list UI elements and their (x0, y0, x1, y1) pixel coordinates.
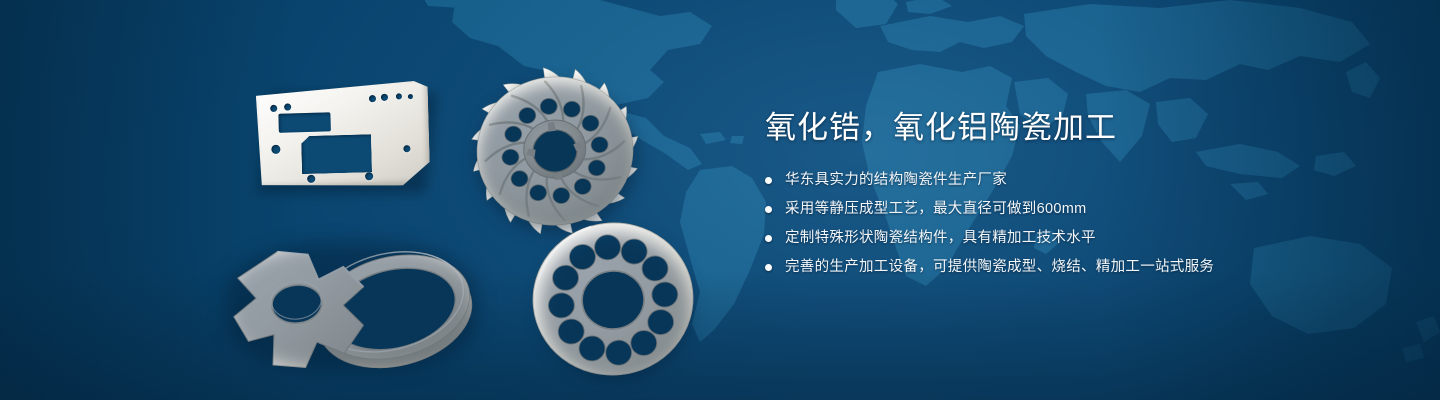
bullet-dot-icon (765, 264, 772, 271)
plate-body (256, 81, 431, 190)
cross-drop-shadow (227, 243, 477, 371)
ceramic-perforated-annulus (525, 213, 705, 385)
bullet-dot-icon (765, 206, 772, 213)
annulus-drop-shadow (539, 233, 691, 379)
bullet-dot-icon (765, 177, 772, 184)
bullet-dot-icon (765, 235, 772, 242)
product-image-cluster (215, 55, 715, 385)
impeller-drop-shadow (477, 83, 637, 233)
list-item-label: 完善的生产加工设备，可提供陶瓷成型、烧结、精加工一站式服务 (785, 257, 1214, 278)
list-item: 采用等静压成型工艺，最大直径可做到600mm (765, 199, 1385, 220)
list-item: 完善的生产加工设备，可提供陶瓷成型、烧结、精加工一站式服务 (765, 257, 1385, 278)
page-title: 氧化锆，氧化铝陶瓷加工 (765, 108, 1385, 148)
list-item: 定制特殊形状陶瓷结构件，具有精加工技术水平 (765, 228, 1385, 249)
feature-bullet-list: 华东具实力的结构陶瓷件生产厂家 采用等静压成型工艺，最大直径可做到600mm 定… (765, 170, 1385, 278)
ceramic-cross-plate-and-ring (215, 215, 505, 385)
list-item-label: 华东具实力的结构陶瓷件生产厂家 (785, 170, 1007, 191)
list-item: 华东具实力的结构陶瓷件生产厂家 (765, 170, 1385, 191)
list-item-label: 定制特殊形状陶瓷结构件，具有精加工技术水平 (785, 228, 1096, 249)
ceramic-machined-plate (257, 83, 432, 198)
product-hero-banner: 氧化锆，氧化铝陶瓷加工 华东具实力的结构陶瓷件生产厂家 采用等静压成型工艺，最大… (0, 0, 1440, 400)
marketing-copy-block: 氧化锆，氧化铝陶瓷加工 华东具实力的结构陶瓷件生产厂家 采用等静压成型工艺，最大… (765, 108, 1385, 286)
list-item-label: 采用等静压成型工艺，最大直径可做到600mm (785, 199, 1086, 220)
